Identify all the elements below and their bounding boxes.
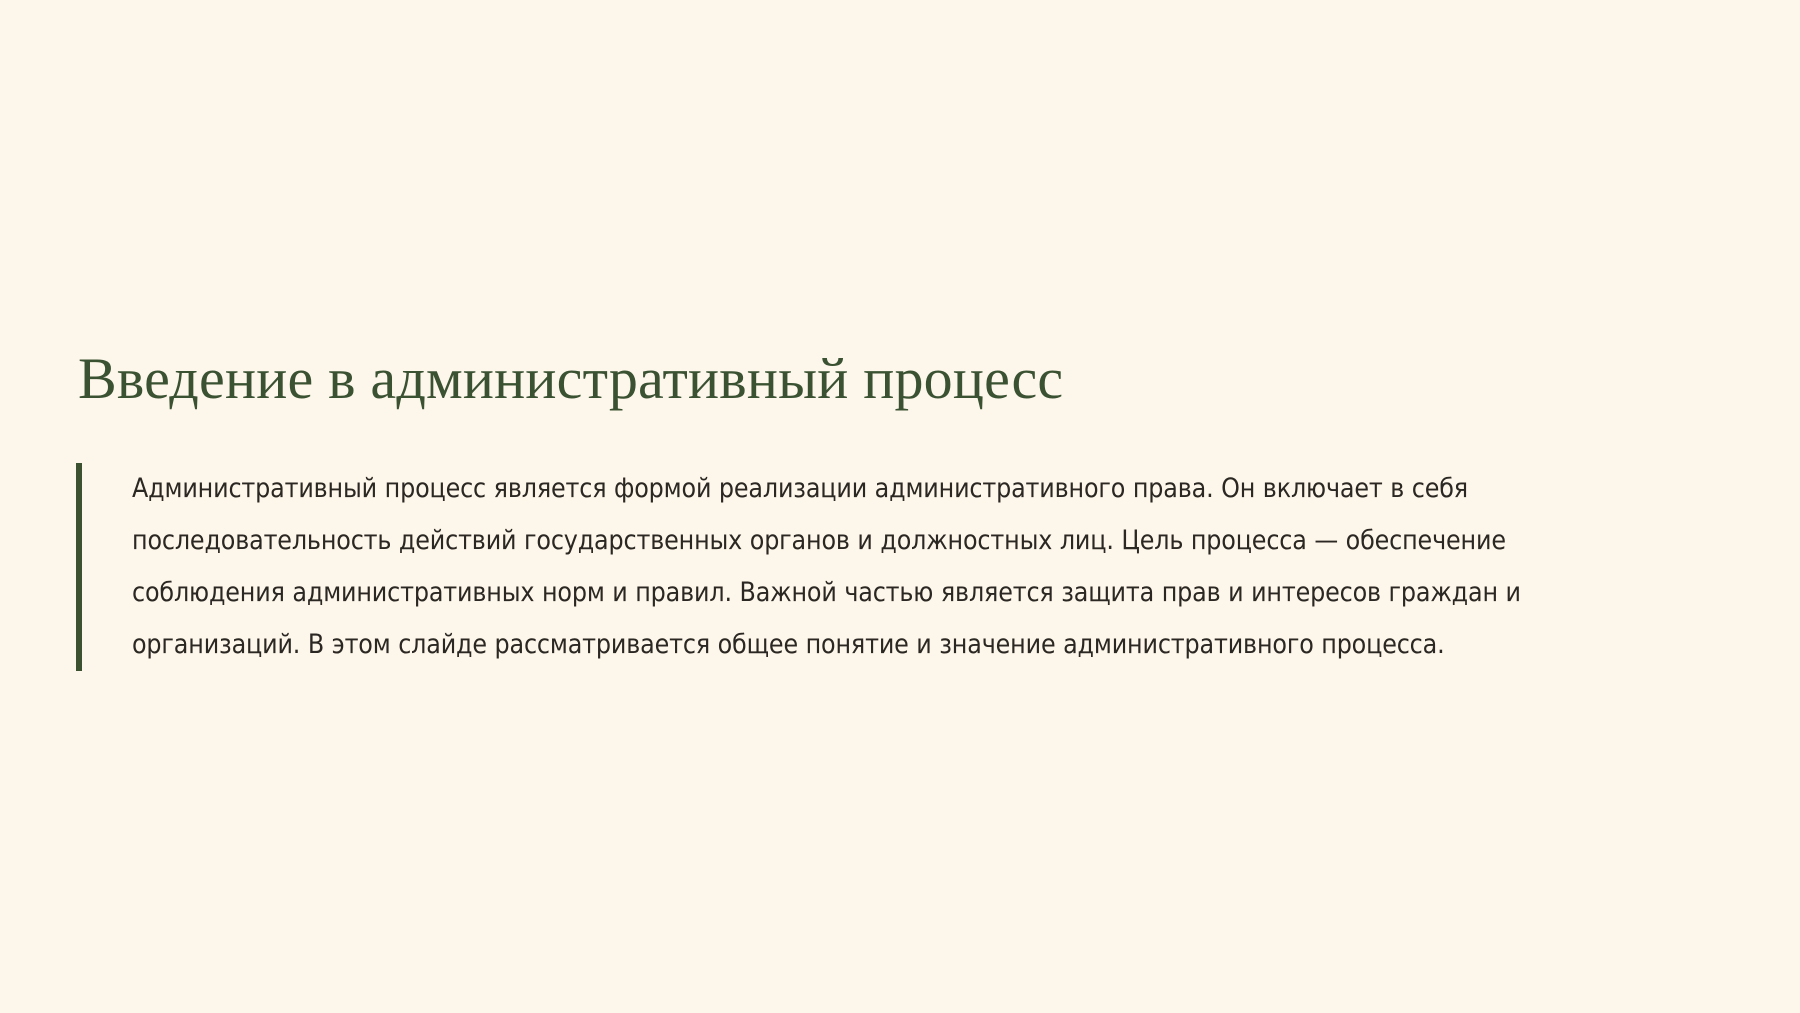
page-title: Введение в административный процесс xyxy=(78,348,1678,411)
body-callout: Административный процесс является формой… xyxy=(76,463,1676,671)
body-paragraph: Административный процесс является формой… xyxy=(82,463,1624,671)
slide-canvas: Введение в административный процесс Адми… xyxy=(0,0,1800,1013)
